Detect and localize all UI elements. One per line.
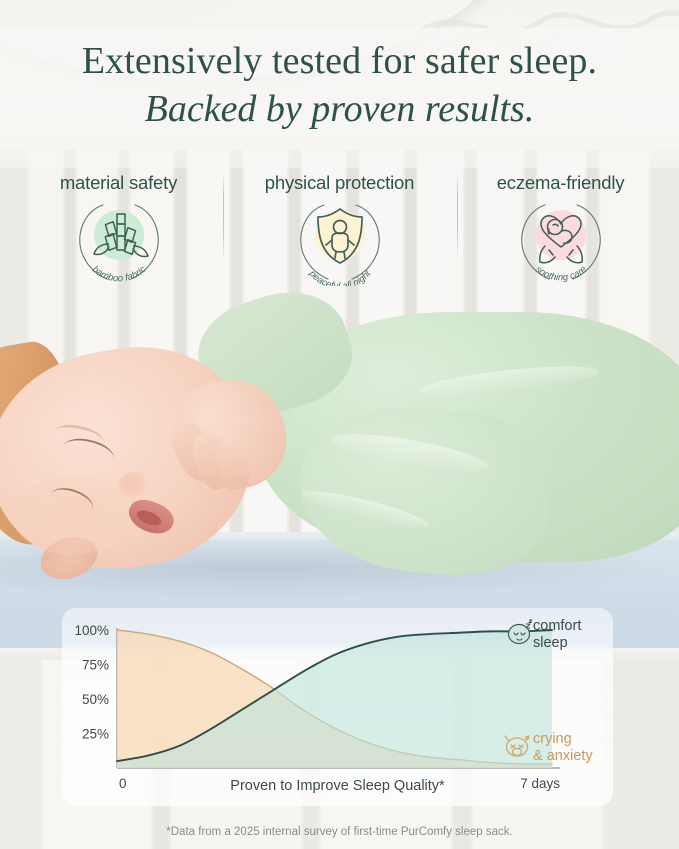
footnote-disclaimer: *Data from a 2025 internal survey of fir… [0,826,679,838]
baby-cheek [12,475,132,555]
chart-caption: Proven to Improve Sleep Quality* [62,778,613,794]
badge-curved-text: bamboo fabric [73,200,165,286]
badge-curved-text: soothing care [515,200,607,286]
feature-label: material safety [8,172,229,194]
headline-line-2: Backed by proven results. [0,87,679,133]
badge-peaceful-all-night: peaceful all night [294,200,386,286]
badge-text: bamboo fabric [89,264,148,285]
svg-text:bamboo fabric: bamboo fabric [89,264,148,285]
legend-comfort-line2: sleep [533,635,633,652]
crying-baby-face-icon [500,729,534,759]
y-axis-tick-label: 25% [82,727,109,742]
feature-badge-row: material safety [8,172,671,290]
feature-physical-protection: physical protection [229,172,450,286]
svg-text:soothing care: soothing care [533,264,589,283]
feature-eczema-friendly: eczema-friendly [450,172,671,286]
y-axis-tick-label: 75% [82,658,109,673]
feature-material-safety: material safety [8,172,229,286]
page-headline: Extensively tested for safer sleep. Back… [0,40,679,132]
legend-crying-line2: & anxiety [533,748,643,765]
feature-divider [457,176,458,258]
headline-line-1: Extensively tested for safer sleep. [0,40,679,83]
baby-nose [118,472,148,498]
badge-text: peaceful all night [306,268,374,286]
y-axis-tick-label: 50% [82,692,109,707]
y-axis-tick-label: 100% [74,623,109,638]
legend-comfort-line1: comfort [533,618,633,635]
legend-crying-anxiety: crying & anxiety [533,731,643,765]
sleeping-baby-face-icon [505,618,535,646]
badge-bamboo-fabric: bamboo fabric [73,200,165,286]
feature-label: eczema-friendly [450,172,671,194]
feature-divider [223,176,224,258]
badge-curved-text: peaceful all night [294,200,386,286]
badge-text: soothing care [533,264,589,283]
legend-crying-line1: crying [533,731,643,748]
legend-comfort-sleep: comfort sleep [533,618,633,652]
badge-soothing-care: soothing care [515,200,607,286]
sleeping-baby-photo [0,290,679,590]
feature-label: physical protection [229,172,450,194]
svg-text:peaceful all night: peaceful all night [306,268,374,286]
